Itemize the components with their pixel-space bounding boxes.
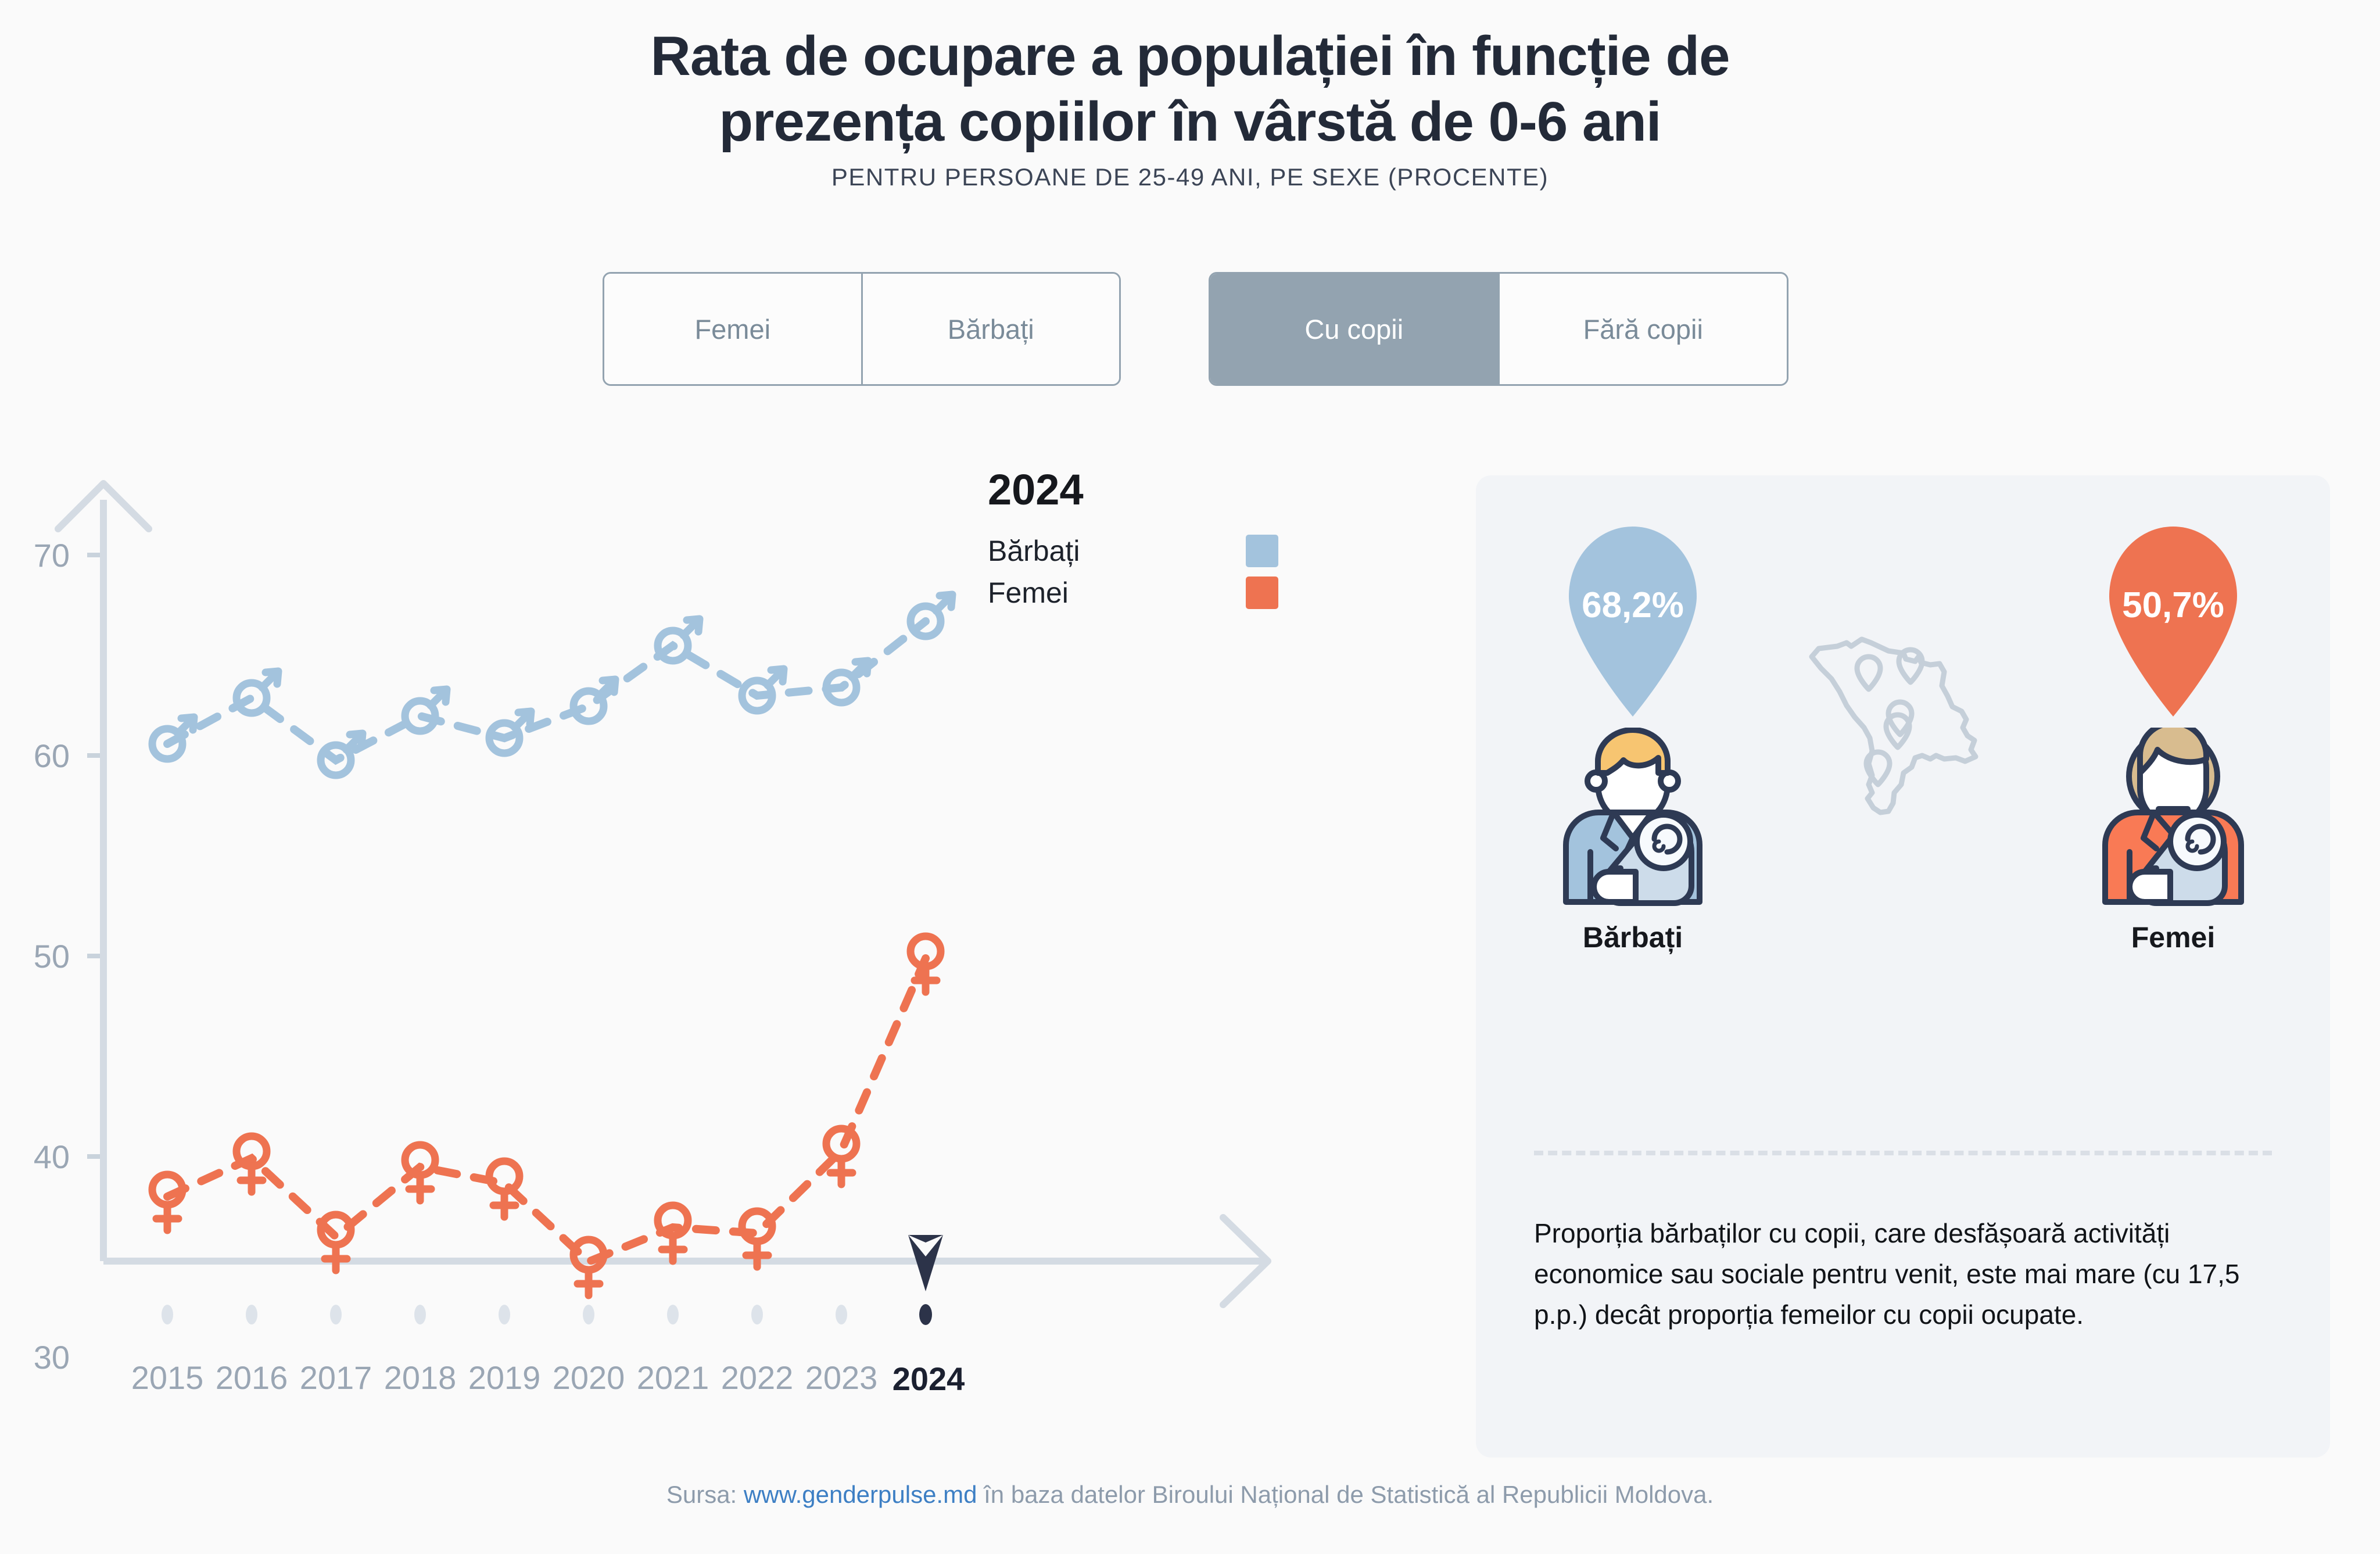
svg-text:2017: 2017 xyxy=(300,1359,372,1396)
svg-text:2021: 2021 xyxy=(637,1359,709,1396)
pin-value-men: 68,2% xyxy=(1554,585,1711,626)
pin-value-women: 50,7% xyxy=(2095,585,2252,626)
svg-text:30: 30 xyxy=(34,1339,70,1376)
legend-swatch-femei xyxy=(1246,577,1278,609)
series-femei xyxy=(152,936,941,1295)
legend-item-barbati[interactable]: Bărbați xyxy=(988,534,1278,568)
svg-text:2024: 2024 xyxy=(892,1360,965,1397)
svg-text:40: 40 xyxy=(34,1138,70,1175)
svg-text:50: 50 xyxy=(34,938,70,975)
legend-item-femei[interactable]: Femei xyxy=(988,576,1278,610)
svg-text:60: 60 xyxy=(34,737,70,774)
x-axis-labels: 2015 2016 2017 2018 2019 2020 2021 2022 … xyxy=(131,1359,965,1397)
page-title-line2: prezența copiilor în vârstă de 0-6 ani xyxy=(0,89,2380,155)
series-barbati xyxy=(152,595,952,775)
toggle-cu-copii[interactable]: Cu copii xyxy=(1210,274,1498,384)
source-footer: Sursa: www.genderpulse.md în baza datelo… xyxy=(0,1481,2380,1509)
svg-text:2016: 2016 xyxy=(216,1359,288,1396)
summary-figures: 68,2% xyxy=(1476,516,2330,1097)
summary-panel: 68,2% xyxy=(1476,475,2330,1458)
map-pin-women: 50,7% xyxy=(2095,516,2252,719)
page-title-line1: Rata de ocupare a populației în funcție … xyxy=(651,25,1730,87)
panel-divider xyxy=(1534,1151,2272,1155)
y-axis-ticks: 70 60 50 40 30 xyxy=(34,537,100,1376)
children-toggle-group[interactable]: Cu copii Fără copii xyxy=(1209,272,1788,386)
page-title: Rata de ocupare a populației în funcție … xyxy=(0,23,2380,155)
svg-text:2020: 2020 xyxy=(553,1359,625,1396)
panel-note: Proporția bărbaților cu copii, care desf… xyxy=(1534,1213,2289,1335)
man-with-baby-icon xyxy=(1549,728,1717,908)
figure-label-women: Femei xyxy=(2048,921,2298,954)
legend-swatch-barbati xyxy=(1246,535,1278,567)
woman-with-baby-icon xyxy=(2089,728,2257,908)
svg-text:2015: 2015 xyxy=(131,1359,204,1396)
svg-text:2022: 2022 xyxy=(721,1359,794,1396)
toggle-barbati[interactable]: Bărbați xyxy=(861,274,1120,384)
legend-label-barbati: Bărbați xyxy=(988,534,1246,568)
map-pin-men: 68,2% xyxy=(1554,516,1711,719)
source-prefix: Sursa: xyxy=(666,1481,744,1508)
svg-text:2023: 2023 xyxy=(805,1359,878,1396)
svg-text:2019: 2019 xyxy=(468,1359,541,1396)
legend-label-femei: Femei xyxy=(988,576,1246,610)
figure-label-men: Bărbați xyxy=(1508,921,1758,954)
page-subtitle: PENTRU PERSOANE DE 25-49 ANI, PE SEXE (P… xyxy=(0,163,2380,191)
summary-figure-men: 68,2% xyxy=(1508,516,1758,954)
toggle-femei[interactable]: Femei xyxy=(604,274,861,384)
summary-figure-women: 50,7% xyxy=(2048,516,2298,954)
infographic-page: Rata de ocupare a populației în funcție … xyxy=(0,0,2380,1554)
page-header: Rata de ocupare a populației în funcție … xyxy=(0,23,2380,191)
svg-text:2018: 2018 xyxy=(384,1359,457,1396)
chart-legend: 2024 Bărbați Femei xyxy=(988,465,1336,618)
svg-text:70: 70 xyxy=(34,537,70,574)
legend-year: 2024 xyxy=(988,465,1336,514)
moldova-map-icon xyxy=(1801,603,1987,847)
source-suffix: în baza datelor Biroului Național de Sta… xyxy=(977,1481,1714,1508)
toggle-fara-copii[interactable]: Fără copii xyxy=(1498,274,1787,384)
sex-toggle-group[interactable]: Femei Bărbați xyxy=(603,272,1121,386)
x-axis-dots xyxy=(162,1304,932,1325)
source-link[interactable]: www.genderpulse.md xyxy=(744,1481,977,1508)
